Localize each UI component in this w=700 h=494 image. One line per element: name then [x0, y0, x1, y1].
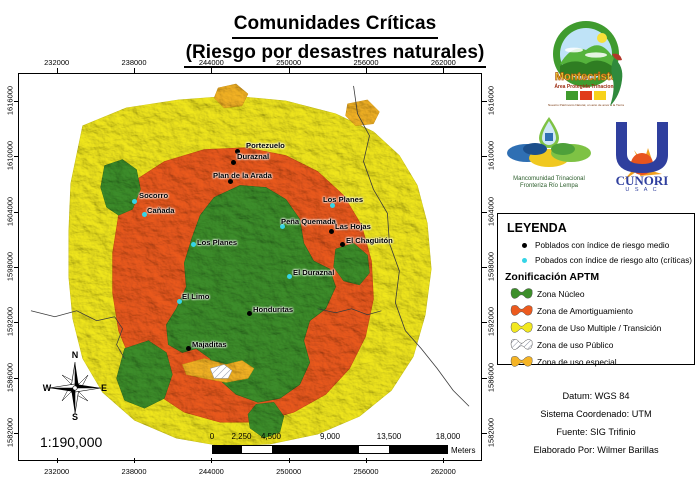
- map-point-medium-risk[interactable]: [340, 242, 345, 247]
- legend-zone-label: Zona de Uso Multiple / Transición: [537, 323, 661, 333]
- axis-tick-label: 1616000: [487, 80, 496, 120]
- map-point-medium-risk[interactable]: [228, 179, 233, 184]
- scale-bar-label: 13,500: [377, 432, 401, 441]
- axis-tick-mark: [366, 458, 367, 463]
- svg-text:E: E: [101, 383, 107, 393]
- map-point-medium-risk[interactable]: [235, 149, 240, 154]
- svg-text:Área Protegida Trinacional: Área Protegida Trinacional: [554, 83, 618, 90]
- map-point-medium-risk[interactable]: [247, 311, 252, 316]
- map-point-high-risk[interactable]: [177, 299, 182, 304]
- axis-tick-mark: [134, 458, 135, 463]
- legend-zone-row: Zona de uso especial: [507, 353, 687, 370]
- scale-ratio: 1:190,000: [40, 434, 102, 450]
- legend-subtitle: Zonificación APTM: [505, 271, 687, 283]
- legend-box: LEYENDA Poblados con índice de riesgo me…: [497, 213, 695, 365]
- map-point-medium-risk[interactable]: [231, 160, 236, 165]
- axis-tick-mark: [482, 156, 487, 157]
- svg-text:U S A C: U S A C: [625, 187, 658, 192]
- legend-zone-swatch: [507, 304, 537, 317]
- legend-point-row: Poblados con índice de riesgo medio: [513, 238, 687, 253]
- map-point-high-risk[interactable]: [330, 203, 335, 208]
- axis-tick-label: 1598000: [487, 247, 496, 287]
- axis-top: 232000238000244000250000256000262000: [18, 58, 482, 72]
- legend-zone-label: Zona de uso especial: [537, 357, 617, 367]
- scale-bar-label: 2,250: [231, 432, 251, 441]
- axis-tick-label: 232000: [44, 58, 69, 67]
- axis-tick-label: 1592000: [487, 302, 496, 342]
- axis-tick-label: 1586000: [487, 357, 496, 397]
- legend-point-marker: [513, 258, 535, 263]
- montecristo-logo: Montecristo Área Protegida Trinacional N…: [540, 14, 636, 110]
- map-title-line-1: Comunidades Críticas: [232, 12, 439, 39]
- legend-point-label: Poblados con índice de riesgo medio: [535, 241, 669, 250]
- axis-tick-label: 232000: [44, 467, 69, 476]
- legend-point-label: Pobados con índice de riesgo alto (críti…: [535, 256, 692, 265]
- axis-tick-label: 244000: [199, 58, 224, 67]
- axis-left: 1616000161000016040001598000159200015860…: [2, 73, 18, 461]
- legend-zone-swatch: [507, 355, 537, 368]
- axis-tick-mark: [482, 212, 487, 213]
- map-point-high-risk[interactable]: [280, 224, 285, 229]
- axis-tick-mark: [14, 378, 19, 379]
- legend-title: LEYENDA: [507, 221, 687, 235]
- map-page: Comunidades Críticas (Riesgo por desastr…: [0, 0, 700, 494]
- axis-tick-mark: [14, 322, 19, 323]
- legend-zone-label: Zona de Amortiguamiento: [537, 306, 633, 316]
- axis-tick-label: 262000: [431, 467, 456, 476]
- legend-zone-label: Zona Núcleo: [537, 289, 585, 299]
- axis-tick-mark: [482, 322, 487, 323]
- axis-tick-mark: [14, 433, 19, 434]
- metadata-line: Datum: WGS 84: [497, 388, 695, 406]
- svg-text:Nuestro Patrimonio Natural, un: Nuestro Patrimonio Natural, un acto de a…: [548, 103, 624, 107]
- axis-tick-mark: [443, 458, 444, 463]
- legend-zone-label: Zona de uso Público: [537, 340, 613, 350]
- map-point-high-risk[interactable]: [132, 199, 137, 204]
- axis-tick-label: 1604000: [487, 191, 496, 231]
- legend-point-symbols: Poblados con índice de riesgo medioPobad…: [505, 238, 687, 268]
- map-point-medium-risk[interactable]: [186, 346, 191, 351]
- legend-point-row: Pobados con índice de riesgo alto (críti…: [513, 253, 687, 268]
- legend-zone-row: Zona de Amortiguamiento: [507, 302, 687, 319]
- metadata-line: Elaborado Por: Wilmer Barillas: [497, 442, 695, 460]
- axis-tick-mark: [482, 433, 487, 434]
- map-point-high-risk[interactable]: [191, 242, 196, 247]
- metadata-line: Sistema Coordenado: UTM: [497, 406, 695, 424]
- legend-zone-row: Zona Núcleo: [507, 285, 687, 302]
- axis-tick-label: 238000: [121, 467, 146, 476]
- axis-tick-label: 250000: [276, 58, 301, 67]
- axis-tick-label: 244000: [199, 467, 224, 476]
- axis-tick-mark: [14, 267, 19, 268]
- map-point-medium-risk[interactable]: [329, 229, 334, 234]
- legend-point-marker: [513, 243, 535, 248]
- scale-units: Meters: [451, 446, 475, 455]
- axis-tick-label: 256000: [353, 58, 378, 67]
- axis-tick-mark: [211, 458, 212, 463]
- scale-bar-label: 0: [210, 432, 214, 441]
- axis-tick-label: 238000: [121, 58, 146, 67]
- metadata-line: Fuente: SIG Trifinio: [497, 424, 695, 442]
- axis-tick-mark: [482, 267, 487, 268]
- legend-zone-row: Zona de Uso Multiple / Transición: [507, 319, 687, 336]
- axis-tick-label: 250000: [276, 467, 301, 476]
- axis-tick-mark: [14, 101, 19, 102]
- legend-zone-row: Zona de uso Público: [507, 336, 687, 353]
- mancomunidad-logo: Mancomunidad Trinacional Fronteriza Río …: [505, 113, 593, 193]
- compass-rose: N S E W: [42, 348, 108, 422]
- axis-tick-mark: [14, 156, 19, 157]
- svg-text:CUNORI: CUNORI: [616, 173, 669, 188]
- cunori-logo: CUNORI U S A C: [600, 112, 684, 192]
- legend-zone-swatch: [507, 338, 537, 351]
- mancomunidad-caption-2: Fronteriza Río Lempa: [520, 183, 578, 189]
- axis-tick-label: 1610000: [487, 136, 496, 176]
- axis-bottom: 232000238000244000250000256000262000: [18, 462, 482, 476]
- legend-zone-symbols: Zona NúcleoZona de AmortiguamientoZona d…: [505, 285, 687, 370]
- axis-tick-label: 1582000: [487, 413, 496, 453]
- axis-tick-mark: [14, 212, 19, 213]
- axis-tick-mark: [482, 101, 487, 102]
- axis-tick-label: 262000: [431, 58, 456, 67]
- scale-bar-label: 4,500: [261, 432, 281, 441]
- map-point-high-risk[interactable]: [287, 274, 292, 279]
- axis-tick-label: 256000: [353, 467, 378, 476]
- scale-bar-label: 9,000: [320, 432, 340, 441]
- mancomunidad-caption-1: Mancomunidad Trinacional: [513, 176, 585, 182]
- axis-tick-mark: [482, 378, 487, 379]
- scale-bar: 02,2504,5009,00013,50018,000: [212, 432, 448, 454]
- map-point-high-risk[interactable]: [142, 212, 147, 217]
- axis-tick-mark: [289, 458, 290, 463]
- svg-text:Montecristo: Montecristo: [555, 71, 618, 83]
- svg-text:N: N: [72, 350, 79, 360]
- axis-tick-mark: [57, 458, 58, 463]
- scale-bar-label: 18,000: [436, 432, 460, 441]
- scale-bar-graphic: [212, 445, 448, 454]
- legend-zone-swatch: [507, 321, 537, 334]
- legend-zone-swatch: [507, 287, 537, 300]
- map-metadata: Datum: WGS 84Sistema Coordenado: UTMFuen…: [497, 388, 695, 460]
